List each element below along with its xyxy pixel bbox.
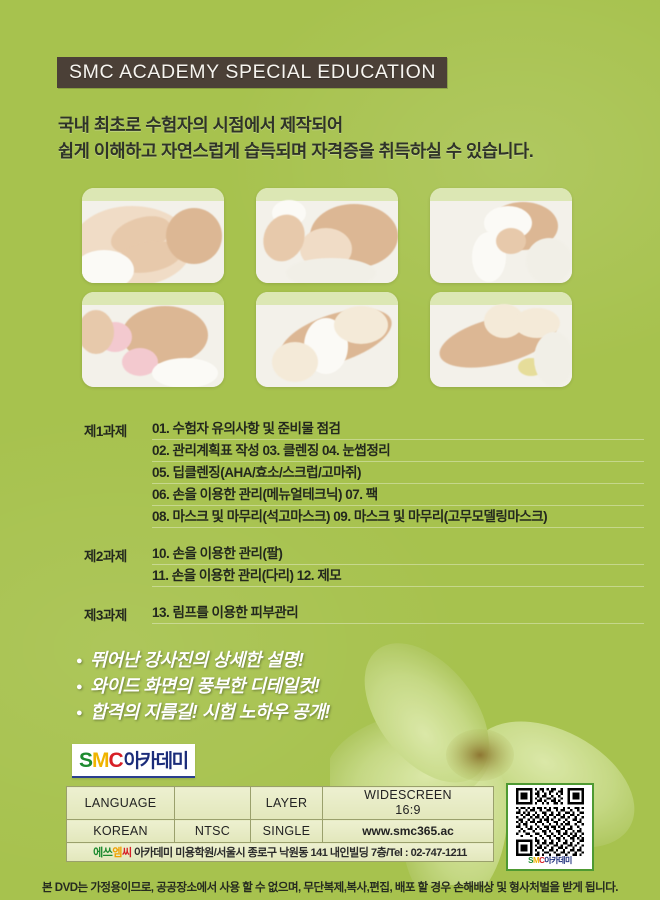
qr-code[interactable]: SMC아카데미 (506, 783, 594, 871)
task-1-lines: 01. 수험자 유의사항 및 준비물 점검 02. 관리계획표 작성 03. 클… (152, 418, 644, 528)
qr-korean-text: 아카데미 (544, 856, 571, 865)
logo-letter-m: M (92, 749, 109, 772)
footer-disclaimer: 본 DVD는 가정용이므로, 공공장소에서 사용 할 수 없으며, 무단복제,복… (0, 874, 660, 900)
curriculum-item: 05. 딥클렌징(AHA/효소/스크럽/고마쥐) (152, 462, 644, 484)
task-group-1: 제1과제 01. 수험자 유의사항 및 준비물 점검 02. 관리계획표 작성 … (84, 418, 644, 528)
title-banner: SMC ACADEMY SPECIAL EDUCATION (57, 57, 447, 88)
cell-blank-header (175, 787, 251, 820)
task-group-3: 제3과제 13. 림프를 이용한 피부관리 (84, 602, 644, 624)
cell-layer-header: LAYER (251, 787, 323, 820)
headline-line-2: 쉽게 이해하고 자연스럽게 습득되며 자격증을 취득하실 수 있습니다. (58, 138, 638, 164)
cell-address: 에쓰엠씨 아카데미 미용학원/서울시 종로구 낙원동 141 내인빌딩 7층/T… (67, 843, 494, 862)
logo-letter-s: S (79, 749, 92, 772)
task-group-2: 제2과제 10. 손을 이용한 관리(팔) 11. 손을 이용한 관리(다리) … (84, 543, 644, 587)
widescreen-label: WIDESCREEN (325, 788, 491, 803)
task-1-label: 제1과제 (84, 418, 152, 528)
task-2-lines: 10. 손을 이용한 관리(팔) 11. 손을 이용한 관리(다리) 12. 제… (152, 543, 644, 587)
curriculum-item: 08. 마스크 및 마무리(석고마스크) 09. 마스크 및 마무리(고무모델링… (152, 506, 644, 528)
cell-website-url[interactable]: www.smc365.ac (323, 820, 494, 843)
address-color-3: 씨 (122, 847, 132, 859)
qr-code-image (511, 788, 589, 856)
address-color-1: 에쓰 (93, 847, 112, 859)
feature-bullets: 뛰어난 강사진의 상세한 설명! 와이드 화면의 풍부한 디테일컷! 합격의 지… (76, 648, 330, 726)
logo-smc-letters: SMC (79, 749, 123, 773)
photo-row-1 (82, 188, 572, 283)
curriculum-item: 02. 관리계획표 작성 03. 클렌징 04. 눈썹정리 (152, 440, 644, 462)
task-3-label: 제3과제 (84, 602, 152, 624)
facial-massage-photo (82, 188, 224, 283)
curriculum-list: 제1과제 01. 수험자 유의사항 및 준비물 점검 02. 관리계획표 작성 … (84, 418, 644, 624)
headline: 국내 최초로 수험자의 시점에서 제작되어 쉽게 이해하고 자연스럽게 습득되며… (58, 112, 638, 164)
logo-letter-c: C (109, 749, 123, 772)
bullet-item: 뛰어난 강사진의 상세한 설명! (76, 648, 330, 674)
table-row: KOREAN NTSC SINGLE www.smc365.ac (67, 820, 494, 843)
spacer (84, 587, 644, 602)
cell-language-header: LANGUAGE (67, 787, 175, 820)
cell-widescreen: WIDESCREEN 16:9 (323, 787, 494, 820)
bullet-item: 와이드 화면의 풍부한 디테일컷! (76, 674, 330, 700)
disclaimer-text: 본 DVD는 가정용이므로, 공공장소에서 사용 할 수 없으며, 무단복제,복… (42, 879, 618, 895)
cell-format-value: NTSC (175, 820, 251, 843)
task-3-lines: 13. 림프를 이용한 피부관리 (152, 602, 644, 624)
widescreen-ratio: 16:9 (325, 803, 491, 818)
photo-grid (82, 188, 572, 396)
curriculum-item: 06. 손을 이용한 관리(메뉴얼테크닉) 07. 팩 (152, 484, 644, 506)
arm-care-photo (256, 292, 398, 387)
mask-application-photo (430, 188, 572, 283)
spacer (84, 528, 644, 543)
table-row: 에쓰엠씨 아카데미 미용학원/서울시 종로구 낙원동 141 내인빌딩 7층/T… (67, 843, 494, 862)
address-text: 아카데미 미용학원/서울시 종로구 낙원동 141 내인빌딩 7층/Tel : … (132, 847, 467, 859)
task-2-label: 제2과제 (84, 543, 152, 587)
leg-waxing-photo (430, 292, 572, 387)
smc-academy-logo: SMC 아카데미 (72, 744, 195, 778)
headline-line-1: 국내 최초로 수험자의 시점에서 제작되어 (58, 112, 638, 138)
spec-table: LANGUAGE LAYER WIDESCREEN 16:9 KOREAN NT… (66, 786, 494, 862)
banner-title: SMC ACADEMY SPECIAL EDUCATION (69, 61, 436, 84)
address-color-2: 엠 (112, 847, 122, 859)
poster-root: SMC ACADEMY SPECIAL EDUCATION 국내 최초로 수험자… (0, 0, 660, 900)
cell-layer-value: SINGLE (251, 820, 323, 843)
table-row: LANGUAGE LAYER WIDESCREEN 16:9 (67, 787, 494, 820)
curriculum-item: 13. 림프를 이용한 피부관리 (152, 602, 644, 624)
logo-korean-text: 아카데미 (124, 746, 188, 773)
bullet-item: 합격의 지름길! 시험 노하우 공개! (76, 700, 330, 726)
qr-caption: SMC아카데미 (511, 856, 589, 866)
curriculum-item: 11. 손을 이용한 관리(다리) 12. 제모 (152, 565, 644, 587)
eyebrow-care-photo (82, 292, 224, 387)
cleansing-cotton-photo (256, 188, 398, 283)
cell-language-value: KOREAN (67, 820, 175, 843)
curriculum-item: 01. 수험자 유의사항 및 준비물 점검 (152, 418, 644, 440)
curriculum-item: 10. 손을 이용한 관리(팔) (152, 543, 644, 565)
photo-row-2 (82, 292, 572, 387)
